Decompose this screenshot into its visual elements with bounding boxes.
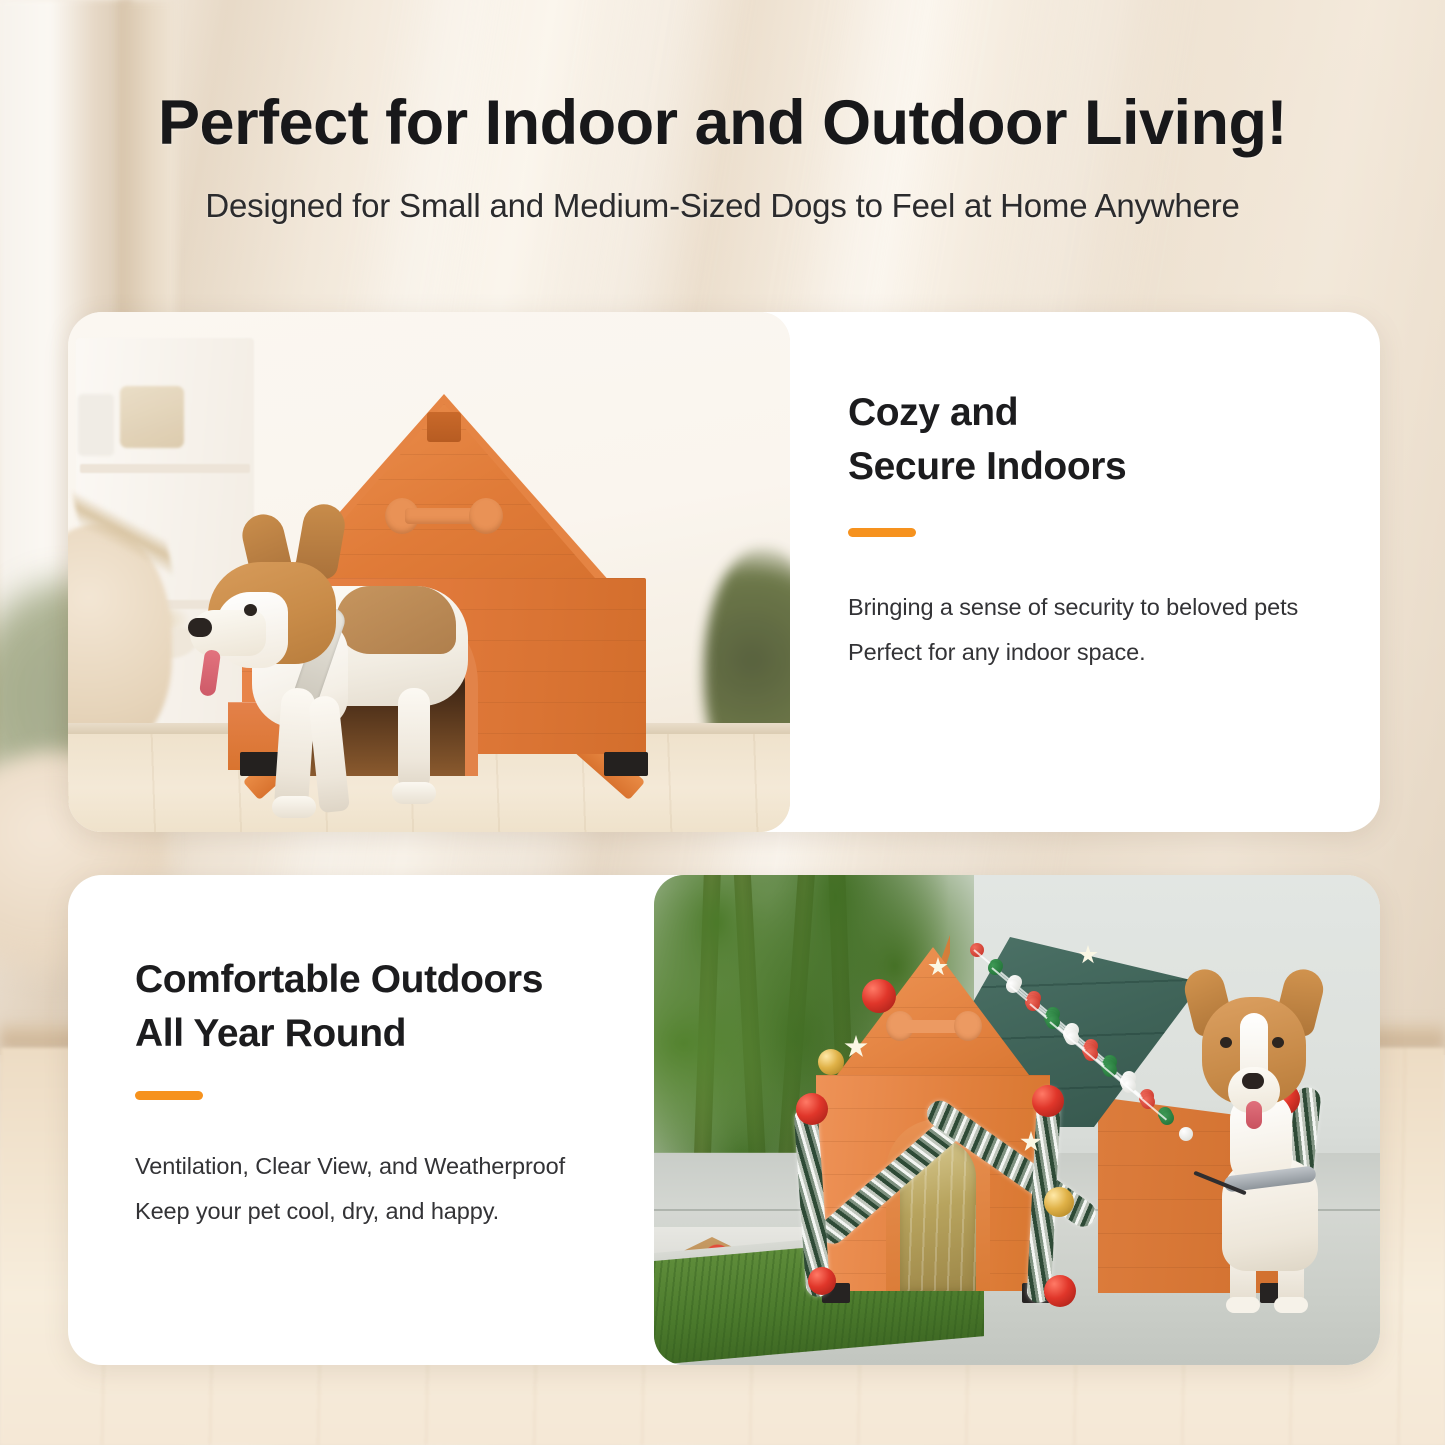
dog-nose xyxy=(1242,1073,1264,1089)
outdoor-dog-house-photo xyxy=(654,875,1380,1365)
bell-ornament xyxy=(1044,1275,1076,1307)
dog-tongue xyxy=(1246,1101,1262,1129)
indoor-feature-text: Cozy and Secure Indoors Bringing a sense… xyxy=(790,312,1380,832)
page-subtitle: Designed for Small and Medium-Sized Dogs… xyxy=(0,187,1445,225)
dog-back-marking xyxy=(336,586,456,654)
outdoor-accent-bar xyxy=(135,1091,203,1100)
indoor-feature-title-line1: Cozy and xyxy=(848,386,1332,440)
outdoor-feature-body-line2: Keep your pet cool, dry, and happy. xyxy=(135,1189,614,1235)
dog-paw xyxy=(1226,1297,1260,1313)
bell-ornament xyxy=(808,1267,836,1295)
indoor-feature-title: Cozy and Secure Indoors xyxy=(848,386,1332,494)
header: Perfect for Indoor and Outdoor Living! D… xyxy=(0,0,1445,225)
feature-card-cozy-secure-indoors: Cozy and Secure Indoors Bringing a sense… xyxy=(68,312,1380,832)
outdoor-feature-body-line1: Ventilation, Clear View, and Weatherproo… xyxy=(135,1144,614,1190)
outdoor-dog xyxy=(1168,981,1358,1309)
indoor-feature-body-line2: Perfect for any indoor space. xyxy=(848,630,1332,676)
feature-card-comfortable-outdoors: Comfortable Outdoors All Year Round Vent… xyxy=(68,875,1380,1365)
dog-tongue xyxy=(199,649,221,697)
dog-paw xyxy=(272,796,316,818)
dog-eye xyxy=(244,604,257,616)
indoor-dog xyxy=(186,500,486,818)
dog-eye xyxy=(1220,1037,1232,1048)
shelf-woven-basket xyxy=(120,386,184,448)
dog-house-ridge-cap xyxy=(427,412,461,442)
dog-house-foot xyxy=(604,752,648,776)
outdoor-feature-title-line2: All Year Round xyxy=(135,1007,614,1061)
dog-paw xyxy=(392,782,436,804)
page-title: Perfect for Indoor and Outdoor Living! xyxy=(0,0,1445,155)
outdoor-feature-text: Comfortable Outdoors All Year Round Vent… xyxy=(68,875,654,1365)
bell-ornament xyxy=(818,1049,844,1075)
bell-ornament xyxy=(862,979,896,1013)
bell-ornament xyxy=(796,1093,828,1125)
indoor-feature-body-line1: Bringing a sense of security to beloved … xyxy=(848,585,1332,631)
indoor-feature-body: Bringing a sense of security to beloved … xyxy=(848,585,1332,676)
bell-ornament xyxy=(1032,1085,1064,1117)
garland-string xyxy=(1049,1021,1167,1120)
indoor-accent-bar xyxy=(848,528,916,537)
bell-ornament xyxy=(1044,1187,1074,1217)
outdoor-feature-body: Ventilation, Clear View, and Weatherproo… xyxy=(135,1144,614,1235)
indoor-dog-house-photo xyxy=(68,312,790,832)
dog-paw xyxy=(1274,1297,1308,1313)
outdoor-feature-title: Comfortable Outdoors All Year Round xyxy=(135,953,614,1061)
outdoor-feature-title-line1: Comfortable Outdoors xyxy=(135,953,614,1007)
dog-hind-leg xyxy=(398,688,430,792)
shelf-glass-jar xyxy=(78,394,114,456)
indoor-feature-title-line2: Secure Indoors xyxy=(848,440,1332,494)
dog-eye xyxy=(1272,1037,1284,1048)
dog-nose xyxy=(188,618,212,637)
